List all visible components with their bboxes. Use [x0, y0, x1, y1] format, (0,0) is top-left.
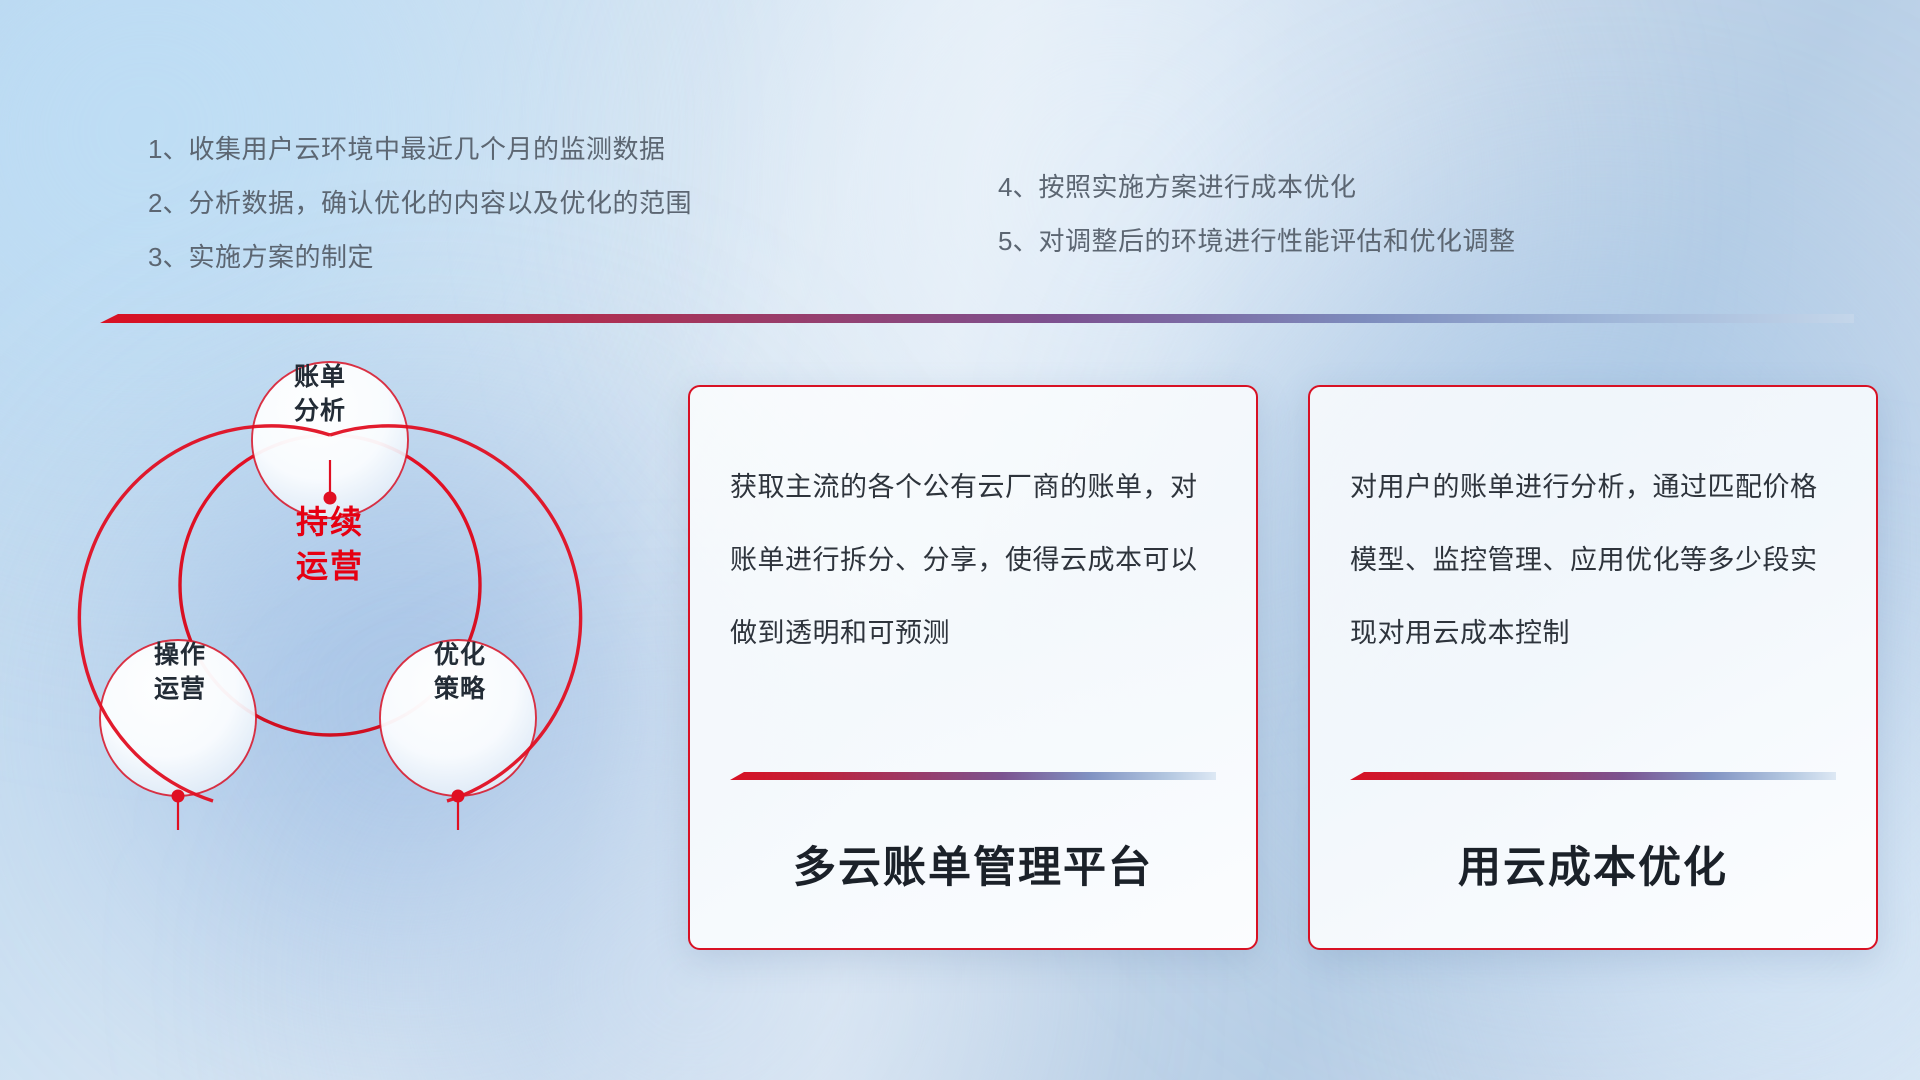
venn-dot-ops [172, 790, 185, 803]
feature-card-cost-optimization[interactable]: 对用户的账单进行分析，通过匹配价格模型、监控管理、应用优化等多少段实现对用云成本… [1308, 385, 1878, 950]
venn-dot-bill [324, 492, 337, 505]
list-item-number: 3、 [148, 242, 188, 272]
list-item-label: 收集用户云环境中最近几个月的监测数据 [188, 134, 665, 164]
list-item-number: 5、 [998, 226, 1038, 256]
list-item: 1、收集用户云环境中最近几个月的监测数据 [148, 122, 848, 176]
venn-dot-strategy [452, 790, 465, 803]
list-item-number: 1、 [148, 134, 188, 164]
list-item-label: 实施方案的制定 [188, 242, 374, 272]
list-item-number: 4、 [998, 172, 1038, 202]
list-item-number: 2、 [148, 188, 188, 218]
list-item-label: 分析数据，确认优化的内容以及优化的范围 [188, 188, 692, 218]
venn-lobe-ops [100, 640, 256, 796]
feature-card-divider [1350, 772, 1836, 780]
steps-list-left: 1、收集用户云环境中最近几个月的监测数据 2、分析数据，确认优化的内容以及优化的… [148, 122, 848, 284]
feature-card-body: 对用户的账单进行分析，通过匹配价格模型、监控管理、应用优化等多少段实现对用云成本… [1350, 451, 1836, 670]
list-item: 5、对调整后的环境进行性能评估和优化调整 [998, 214, 1738, 268]
list-item: 2、分析数据，确认优化的内容以及优化的范围 [148, 176, 848, 230]
section-divider [100, 314, 1854, 323]
list-item-label: 对调整后的环境进行性能评估和优化调整 [1038, 226, 1515, 256]
venn-lobe-strategy [380, 640, 536, 796]
feature-card-multicloud-billing[interactable]: 获取主流的各个公有云厂商的账单，对账单进行拆分、分享，使得云成本可以做到透明和可… [688, 385, 1258, 950]
steps-list-right: 4、按照实施方案进行成本优化 5、对调整后的环境进行性能评估和优化调整 [998, 160, 1738, 268]
feature-card-title: 多云账单管理平台 [730, 840, 1216, 896]
list-item: 4、按照实施方案进行成本优化 [998, 160, 1738, 214]
venn-diagram: 账单 分析 操作 运营 优化 策略 持续 运营 [95, 360, 565, 920]
feature-card-divider [730, 772, 1216, 780]
feature-card-body: 获取主流的各个公有云厂商的账单，对账单进行拆分、分享，使得云成本可以做到透明和可… [730, 451, 1216, 670]
venn-svg [95, 360, 565, 920]
list-item: 3、实施方案的制定 [148, 230, 848, 284]
list-item-label: 按照实施方案进行成本优化 [1038, 172, 1356, 202]
feature-card-title: 用云成本优化 [1350, 840, 1836, 896]
